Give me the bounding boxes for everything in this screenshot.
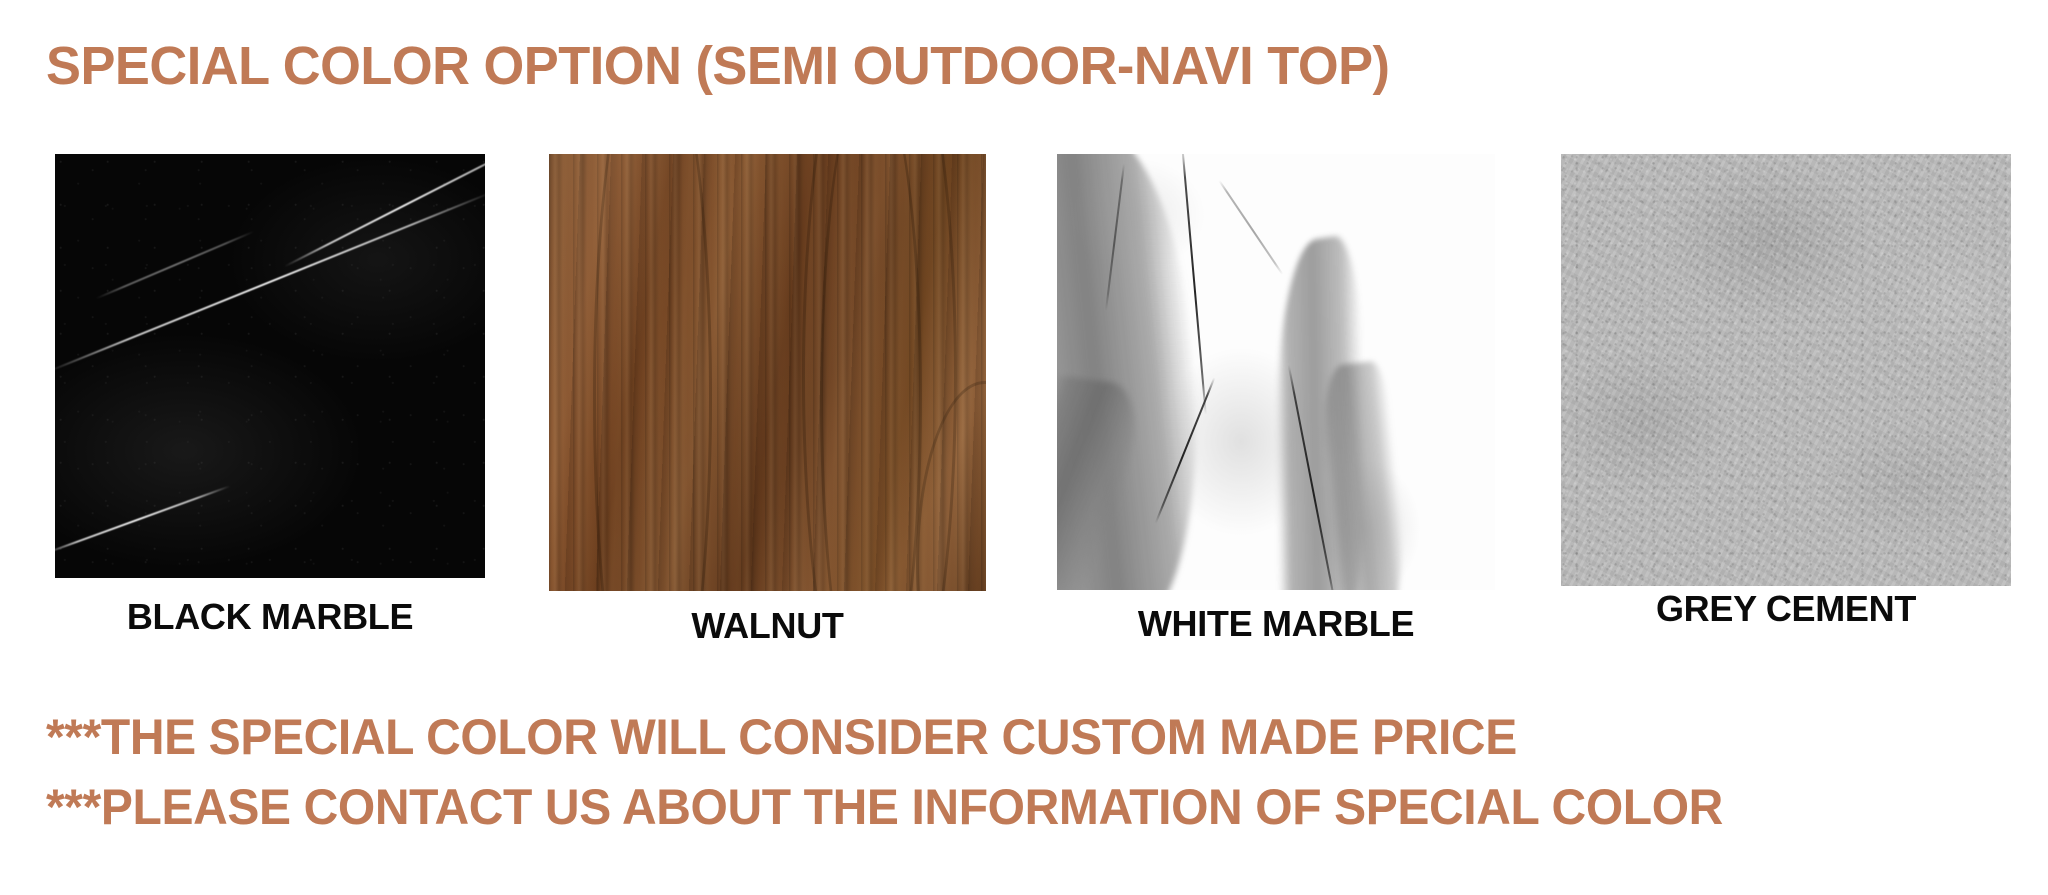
swatch-item-grey-cement[interactable]: GREY CEMENT (1561, 154, 2011, 586)
page-title: SPECIAL COLOR OPTION (SEMI OUTDOOR-NAVI … (46, 37, 1889, 95)
color-option-slide: SPECIAL COLOR OPTION (SEMI OUTDOOR-NAVI … (0, 0, 2048, 895)
walnut-swatch-image (549, 154, 986, 591)
marble-soft-shading (1057, 154, 1495, 590)
black-marble-swatch-image (55, 154, 485, 578)
swatch-item-white-marble[interactable]: WHITE MARBLE (1057, 154, 1495, 590)
cement-grit-overlay (1561, 154, 2011, 586)
note-line-custom-price: ***THE SPECIAL COLOR WILL CONSIDER CUSTO… (46, 702, 1928, 772)
swatch-label: BLACK MARBLE (127, 597, 413, 637)
wood-sheen-overlay (549, 154, 986, 591)
swatch-label: GREY CEMENT (1656, 589, 1916, 629)
swatch-label: WALNUT (691, 606, 843, 646)
swatch-item-walnut[interactable]: WALNUT (549, 154, 986, 591)
white-marble-swatch-image (1057, 154, 1495, 590)
swatch-label: WHITE MARBLE (1138, 604, 1414, 644)
note-line-contact-us: ***PLEASE CONTACT US ABOUT THE INFORMATI… (46, 772, 1928, 842)
marble-speckle-overlay (55, 154, 485, 578)
footer-notes: ***THE SPECIAL COLOR WILL CONSIDER CUSTO… (46, 702, 2006, 842)
grey-cement-swatch-image (1561, 154, 2011, 586)
swatch-row: BLACK MARBLE WALNUT (0, 154, 2048, 654)
swatch-item-black-marble[interactable]: BLACK MARBLE (55, 154, 485, 578)
